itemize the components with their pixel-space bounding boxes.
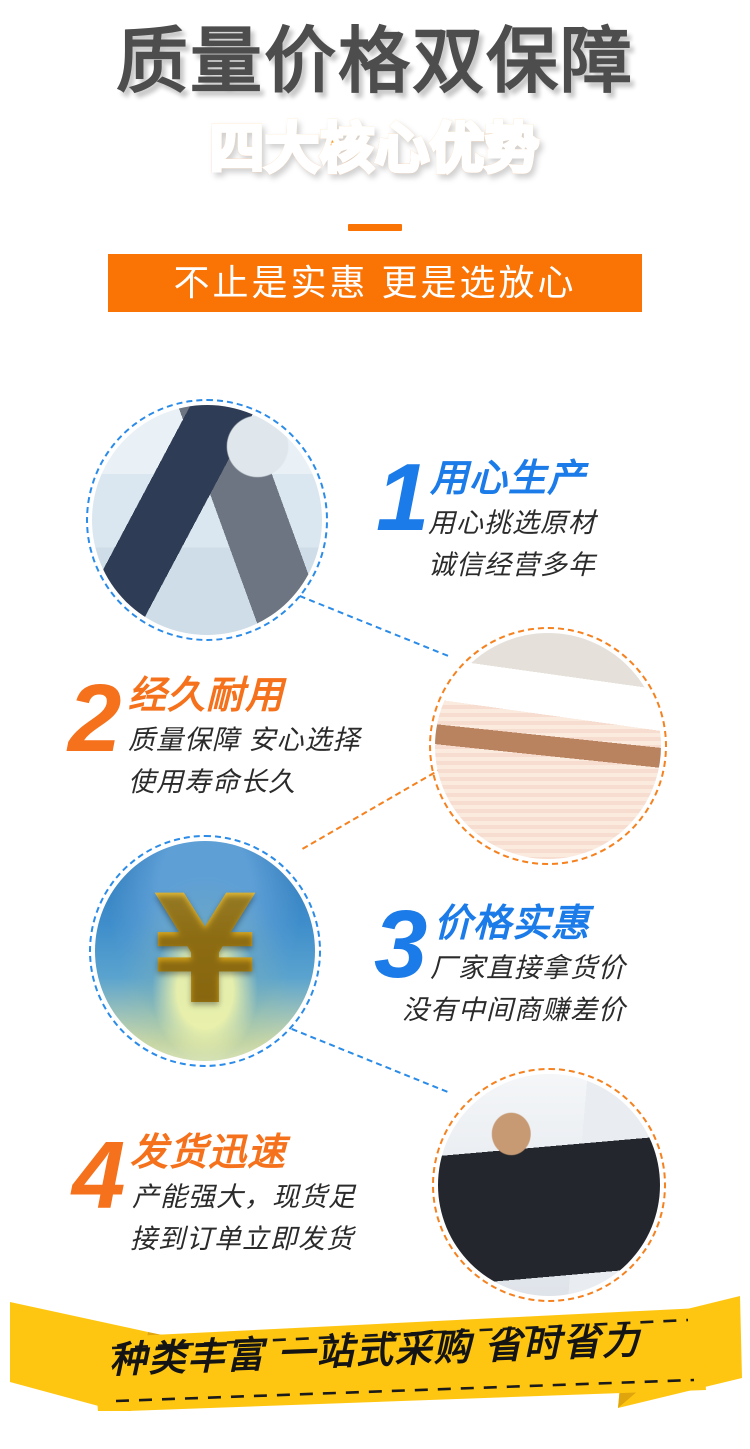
feature-2-title: 经久耐用 — [128, 675, 284, 717]
feature-4-line-1: 产能强大，现货足 — [132, 1182, 356, 1212]
feature-1-line-2: 诚信经营多年 — [428, 550, 596, 580]
feature-1-line-1: 用心挑选原材 — [428, 508, 596, 538]
feature-2-number: 2 — [68, 671, 121, 767]
divider-dash-icon — [348, 224, 402, 231]
feature-4-title: 发货迅速 — [130, 1132, 286, 1174]
feature-block-2: 2 经久耐用 质量保障 安心选择 使用寿命长久 — [0, 625, 750, 865]
page-title: 质量价格双保障 — [0, 22, 750, 102]
page-subtitle: 四大核心优势 — [210, 118, 540, 180]
bottom-ribbon-banner: 种类丰富 一站式采购 省时省力 — [0, 1286, 750, 1411]
feature-1-image — [92, 405, 322, 635]
feature-2-line-1: 质量保障 安心选择 — [128, 725, 361, 755]
feature-4-image — [438, 1074, 660, 1296]
feature-4-line-2: 接到订单立即发货 — [130, 1224, 354, 1254]
subtitle-wrapper: 四大核心优势 — [0, 118, 750, 180]
feature-2-line-2: 使用寿命长久 — [128, 767, 296, 797]
feature-3-line-2: 没有中间商赚差价 — [402, 995, 626, 1025]
feature-block-3: ¥ 3 价格实惠 厂家直接拿货价 没有中间商赚差价 — [0, 835, 750, 1075]
feature-3-title: 价格实惠 — [434, 903, 590, 945]
feature-block-1: 1 用心生产 用心挑选原材 诚信经营多年 — [0, 395, 750, 635]
feature-block-4: 4 发货迅速 产能强大，现货足 接到订单立即发货 — [0, 1060, 750, 1300]
yuan-symbol-icon: ¥ — [95, 841, 315, 1061]
promo-banner-label: 不止是实惠 更是选放心 — [173, 263, 576, 303]
promo-banner: 不止是实惠 更是选放心 — [108, 254, 642, 312]
feature-3-number: 3 — [374, 897, 427, 993]
feature-4-number: 4 — [72, 1128, 125, 1224]
header-section: 质量价格双保障 四大核心优势 不止是实惠 更是选放心 — [0, 0, 750, 340]
feature-1-title: 用心生产 — [430, 458, 586, 500]
feature-1-number: 1 — [376, 450, 429, 546]
feature-3-image: ¥ — [95, 841, 315, 1061]
feature-3-line-1: 厂家直接拿货价 — [430, 953, 626, 983]
feature-2-image — [435, 633, 661, 859]
